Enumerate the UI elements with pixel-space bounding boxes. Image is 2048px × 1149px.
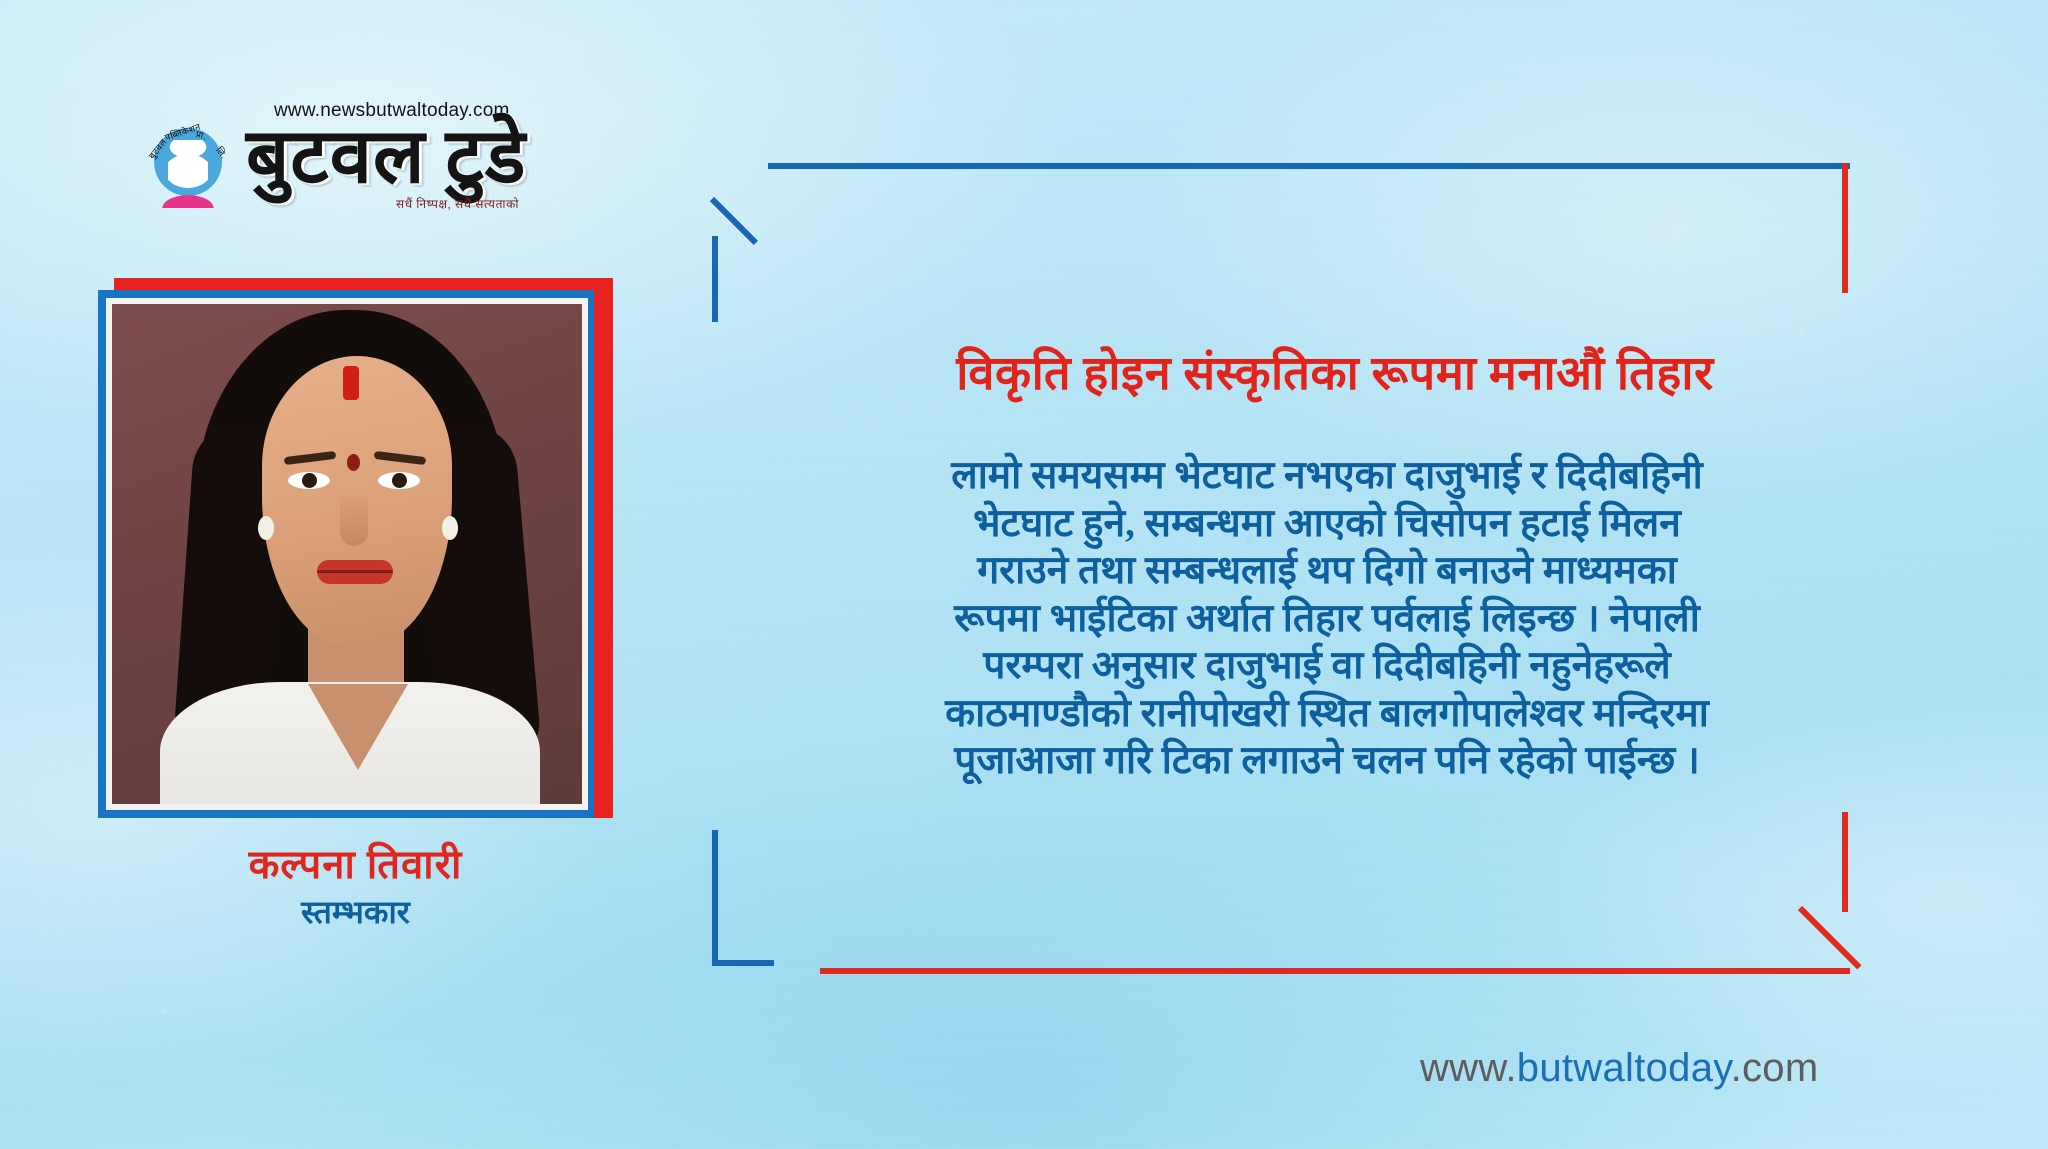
bracket-top-horizontal [768,163,1850,169]
bracket-bottom-right-vertical [1842,812,1848,912]
emblem-arc-word-4: लि. [213,144,230,161]
article-body-line: लामो समयसम्म भेटघाट नभएका दाजुभाई र दिदी… [762,452,1892,500]
footer-url-name: butwaltoday [1517,1046,1731,1090]
footer-url-prefix: www. [1420,1046,1517,1090]
author-role: स्तम्भकार [98,890,613,933]
masthead-title: बुटवल टुडे [246,123,526,193]
emblem-arc-text: बुटवल पब्लिकेशन प्रा. लि. [140,116,236,212]
publication-emblem-icon: बुटवल पब्लिकेशन प्रा. लि. [140,116,236,212]
bracket-bottom-left-vertical [712,830,718,966]
portrait-sindoor [343,366,359,400]
author-photo-card [98,278,613,818]
article-body-line: गराउने तथा सम्बन्धलाई थप दिगो बनाउने माध… [762,547,1892,595]
emblem-arc-word-3: प्रा. [194,127,208,142]
footer-url-suffix: .com [1731,1046,1819,1090]
portrait-bindi [347,454,360,471]
article-headline: विकृति होइन संस्कृतिका रूपमा मनाऔं तिहार [780,346,1890,402]
portrait-earring-right [442,516,458,540]
article-body-line: परम्परा अनुसार दाजुभाई वा दिदीबहिनी नहुन… [762,642,1892,690]
portrait-earring-left [258,516,274,540]
portrait-lip-line [317,570,393,573]
footer-site-url[interactable]: www.butwaltoday.com [1420,1046,1818,1091]
article-body-line: रूपमा भाईटिका अर्थात तिहार पर्वलाई लिइन्… [762,595,1892,643]
article-body: लामो समयसम्म भेटघाट नभएका दाजुभाई र दिदी… [762,452,1892,785]
article-body-line: भेटघाट हुने, सम्बन्धमा आएको चिसोपन हटाई … [762,500,1892,548]
bracket-top-left-vertical [712,236,718,322]
portrait-pupil-right [392,473,407,488]
poster-canvas: बुटवल पब्लिकेशन प्रा. लि. www.newsbutwal… [0,0,2048,1149]
portrait-pupil-left [302,473,317,488]
logo-wordmark-block: www.newsbutwaltoday.com बुटवल टुडे सधैं … [246,100,526,212]
bracket-bottom-horizontal [820,968,1850,974]
author-name: कल्पना तिवारी [98,835,613,890]
masthead-tagline: सधैं निष्पक्ष, सधैं सत्यताको [396,195,526,212]
author-portrait-image [112,304,582,804]
masthead-logo[interactable]: बुटवल पब्लिकेशन प्रा. लि. www.newsbutwal… [140,100,526,212]
portrait-nose [340,492,368,546]
article-body-line: पूजाआजा गरि टिका लगाउने चलन पनि रहेको पा… [762,737,1892,785]
bracket-bottom-left-stub [712,960,774,966]
article-body-line: काठमाण्डौको रानीपोखरी स्थित बालगोपालेश्व… [762,690,1892,738]
bracket-top-right-vertical [1842,163,1848,293]
